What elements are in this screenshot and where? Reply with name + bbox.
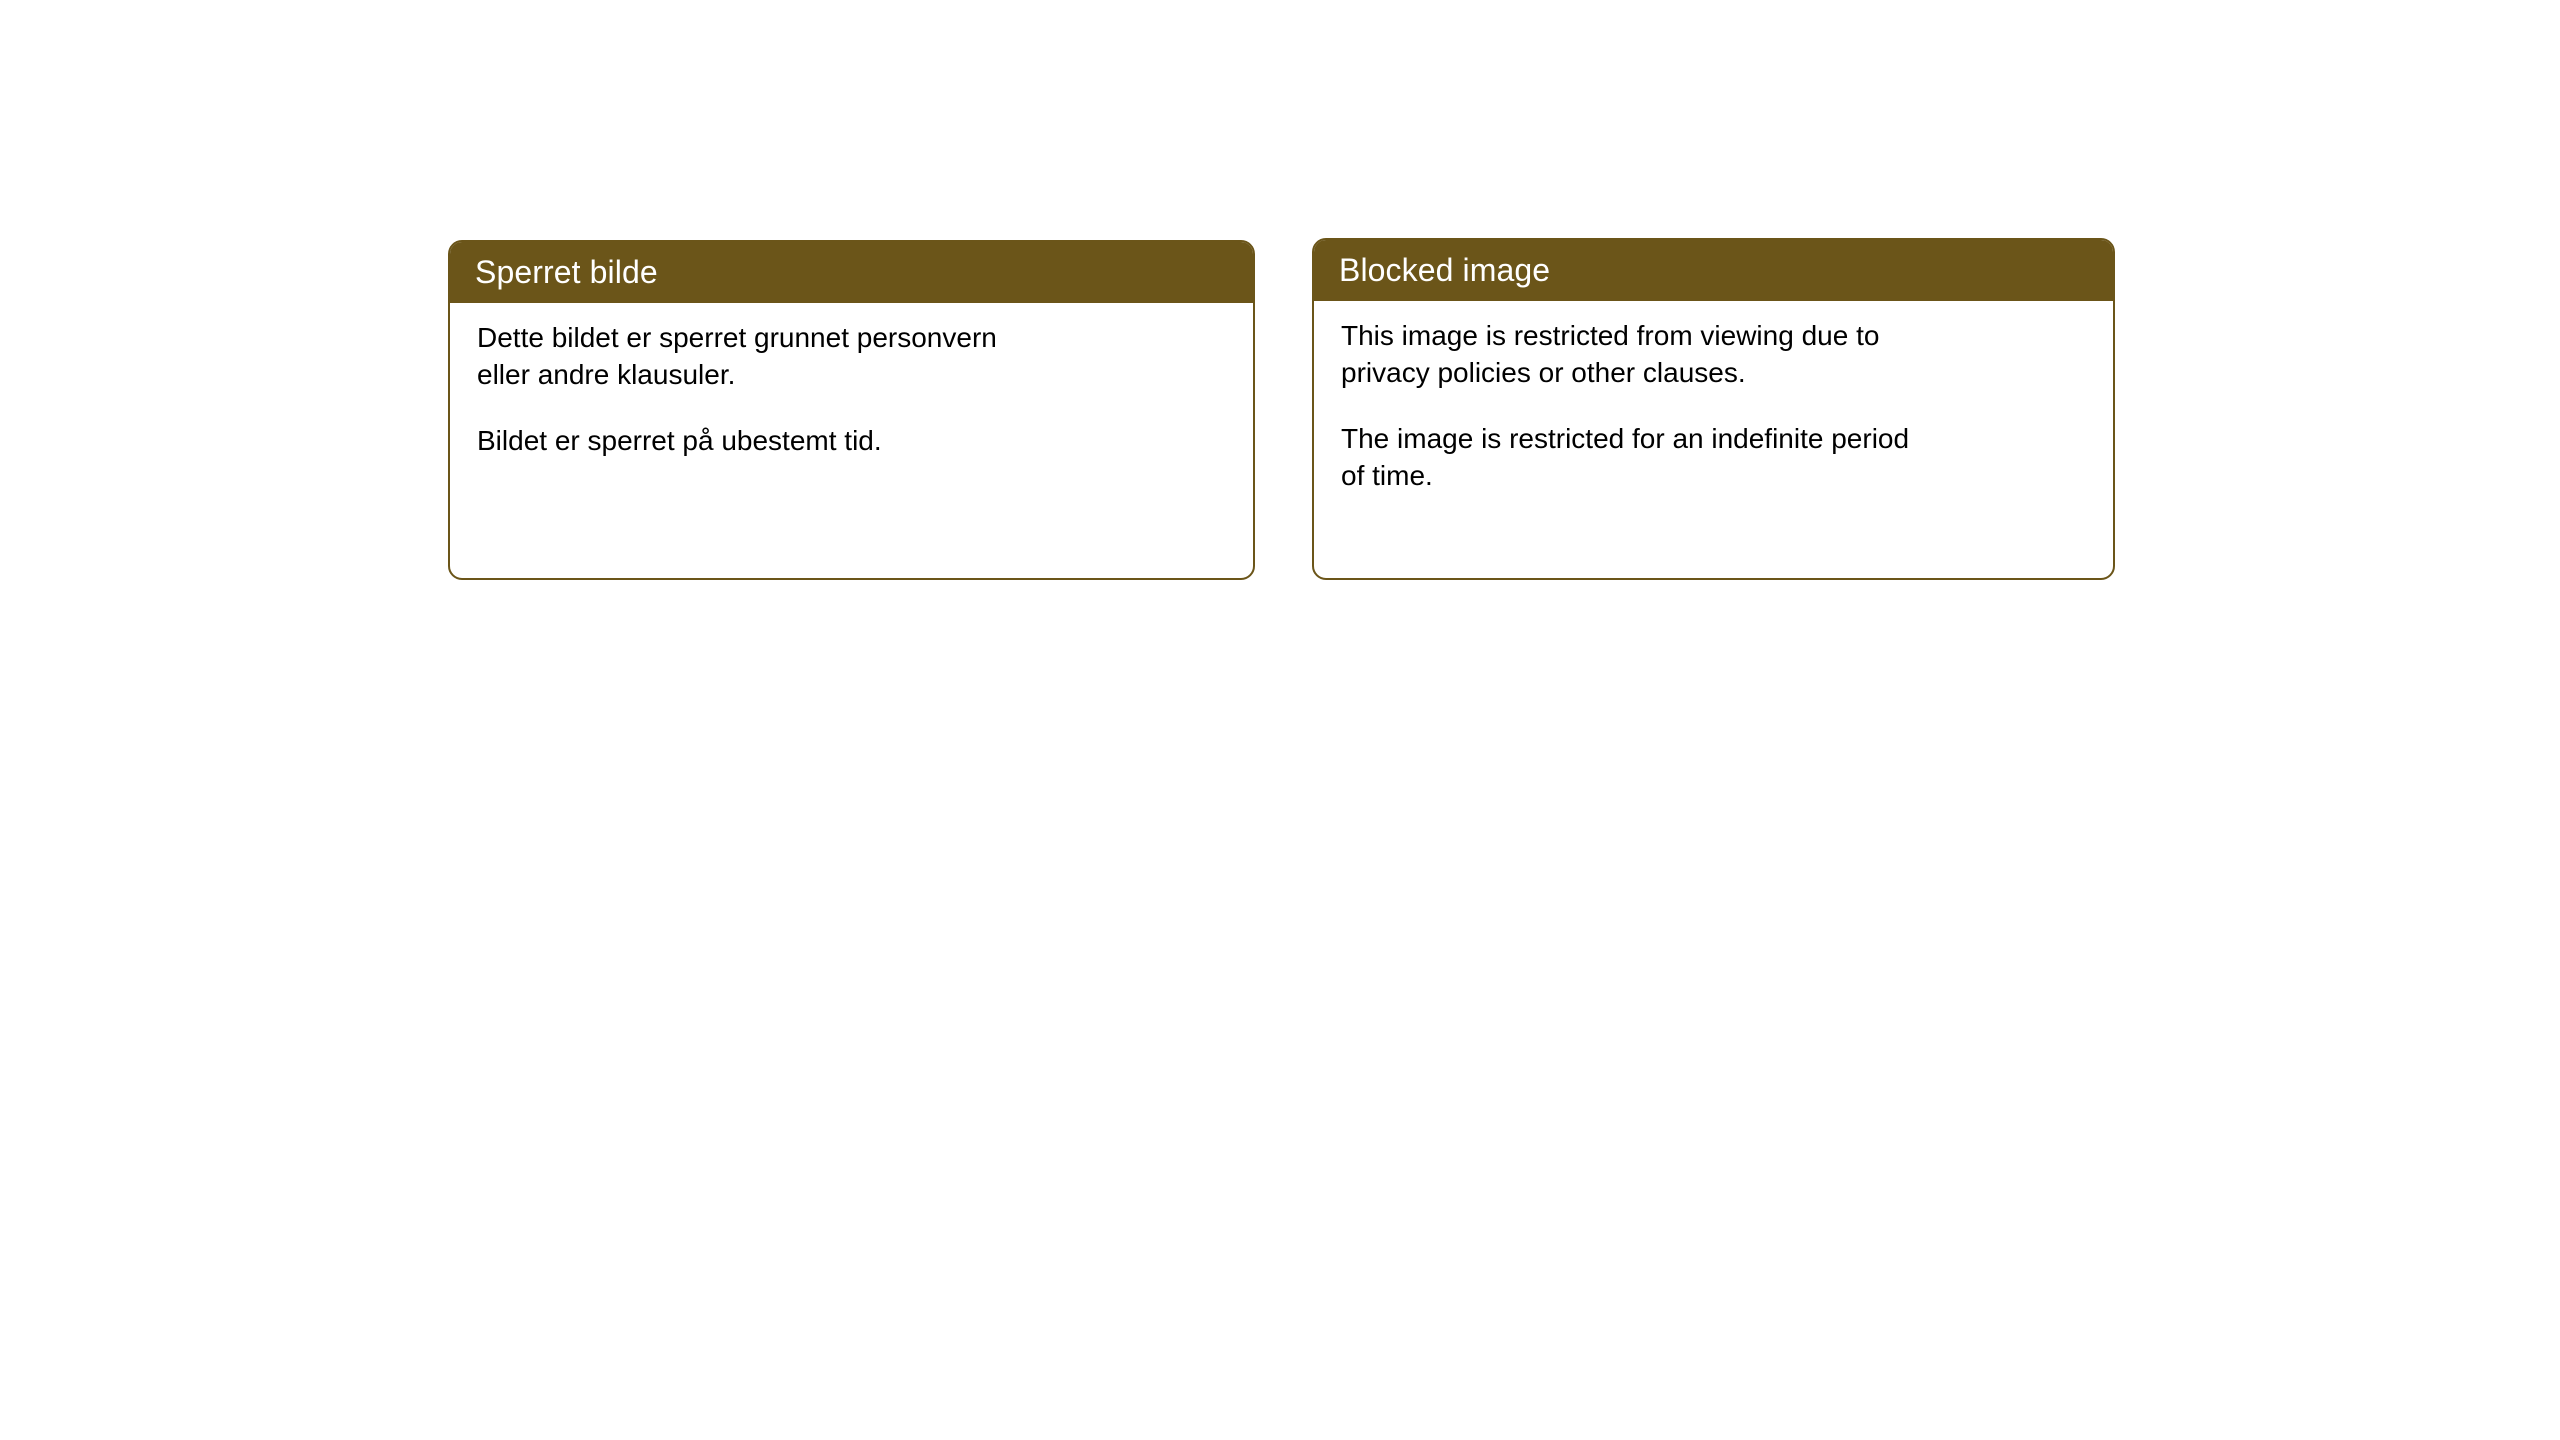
panel-paragraph-norwegian-1: Dette bildet er sperret grunnet personve… (477, 320, 1229, 394)
panel-header-norwegian: Sperret bilde (448, 240, 1255, 303)
blocked-image-notice-area: Sperret bilde Dette bildet er sperret gr… (0, 0, 2560, 1440)
panel-body-english: This image is restricted from viewing du… (1314, 301, 2113, 495)
panel-title-english: Blocked image (1339, 254, 1550, 286)
panel-paragraph-norwegian-2: Bildet er sperret på ubestemt tid. (477, 423, 1229, 460)
blocked-image-panel-english: Blocked image This image is restricted f… (1312, 238, 2115, 580)
panel-paragraph-english-2: The image is restricted for an indefinit… (1341, 421, 2089, 495)
panel-body-norwegian: Dette bildet er sperret grunnet personve… (450, 303, 1253, 460)
panel-paragraph-english-1: This image is restricted from viewing du… (1341, 318, 2089, 392)
panel-header-english: Blocked image (1312, 238, 2115, 301)
panel-title-norwegian: Sperret bilde (475, 256, 658, 288)
blocked-image-panel-norwegian: Sperret bilde Dette bildet er sperret gr… (448, 240, 1255, 580)
